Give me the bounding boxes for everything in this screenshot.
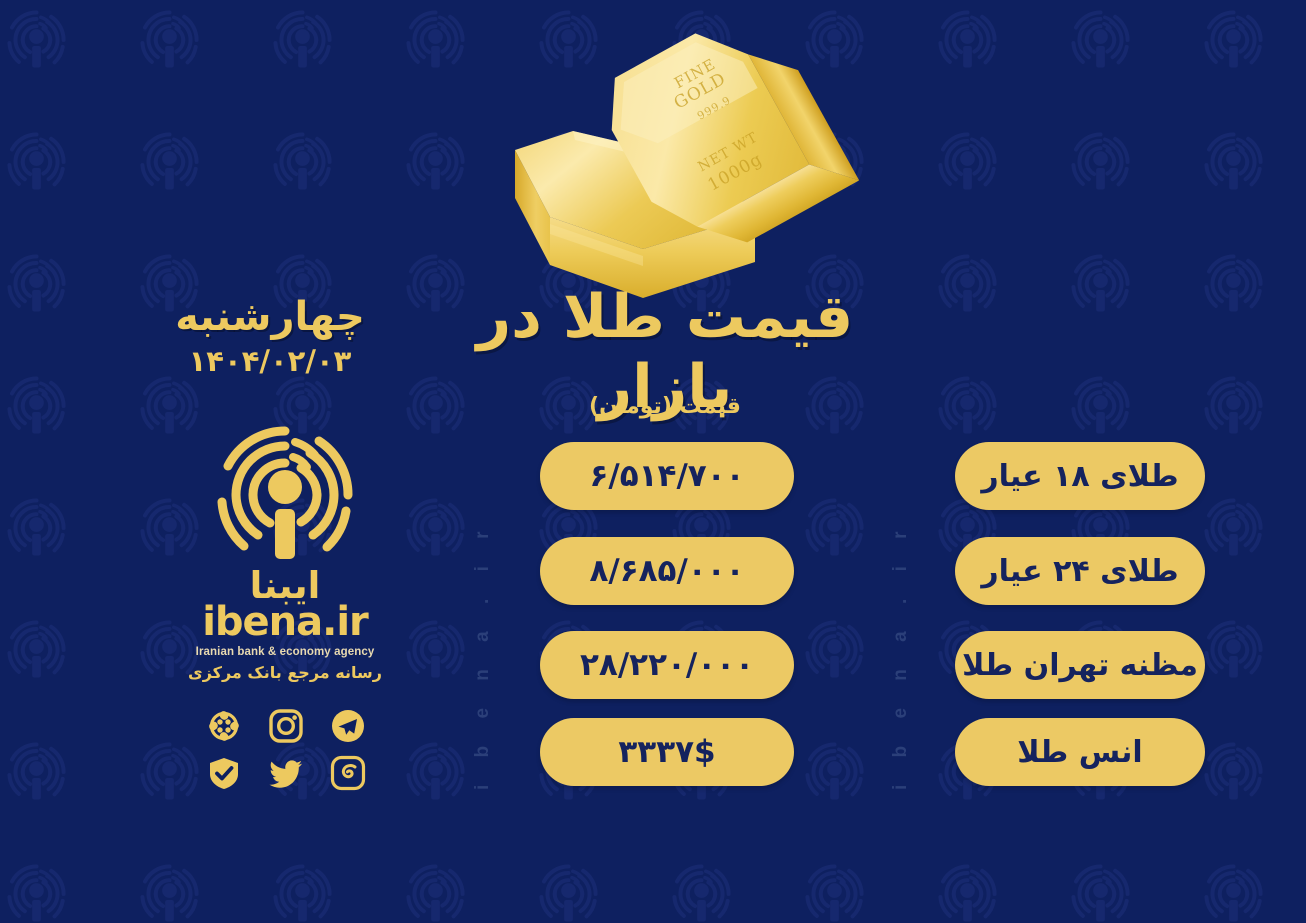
ibena-antenna-logo-icon: [215, 425, 355, 565]
gold-bars-image: FINE GOLD 999.9 NET WT 1000g: [455, 10, 925, 300]
eitaa-icon[interactable]: [330, 755, 366, 791]
brand-logo-block: ایبنا ibena.ir Iranian bank & economy ag…: [185, 425, 385, 682]
price-column-header: قیمت (تومان): [545, 394, 785, 419]
telegram-icon[interactable]: [330, 708, 366, 744]
price-label-row-0: طلای ۱۸ عیار: [955, 442, 1205, 510]
price-label-row-2: مظنه تهران طلا: [955, 631, 1205, 699]
social-links: [196, 708, 376, 802]
watermark-right: i b e n a . i r: [890, 520, 912, 790]
bale-shield-check-icon[interactable]: [206, 755, 242, 791]
infographic-canvas: i b e n a . i r i b e n a . i r: [0, 0, 1306, 923]
brand-tagline-en: Iranian bank & economy agency: [185, 646, 385, 658]
brand-tagline-fa: رسانه مرجع بانک مرکزی: [185, 663, 385, 682]
aparat-icon[interactable]: [206, 708, 242, 744]
date-value: ۱۴۰۴/۰۲/۰۳: [140, 344, 400, 378]
date-block: چهارشنبه ۱۴۰۴/۰۲/۰۳: [140, 295, 400, 378]
brand-name-en: ibena.ir: [185, 602, 385, 642]
price-label-row-3: انس طلا: [955, 718, 1205, 786]
watermark-left: i b e n a . i r: [472, 520, 494, 790]
price-value-row-2: ۲۸/۲۲۰/۰۰۰: [540, 631, 794, 699]
price-value-row-0: ۶/۵۱۴/۷۰۰: [540, 442, 794, 510]
instagram-icon[interactable]: [268, 708, 304, 744]
twitter-bird-icon[interactable]: [268, 755, 304, 791]
price-value-row-1: ۸/۶۸۵/۰۰۰: [540, 537, 794, 605]
price-value-row-3: ۳۳۳۷$: [540, 718, 794, 786]
day-name: چهارشنبه: [140, 295, 400, 340]
price-label-row-1: طلای ۲۴ عیار: [955, 537, 1205, 605]
